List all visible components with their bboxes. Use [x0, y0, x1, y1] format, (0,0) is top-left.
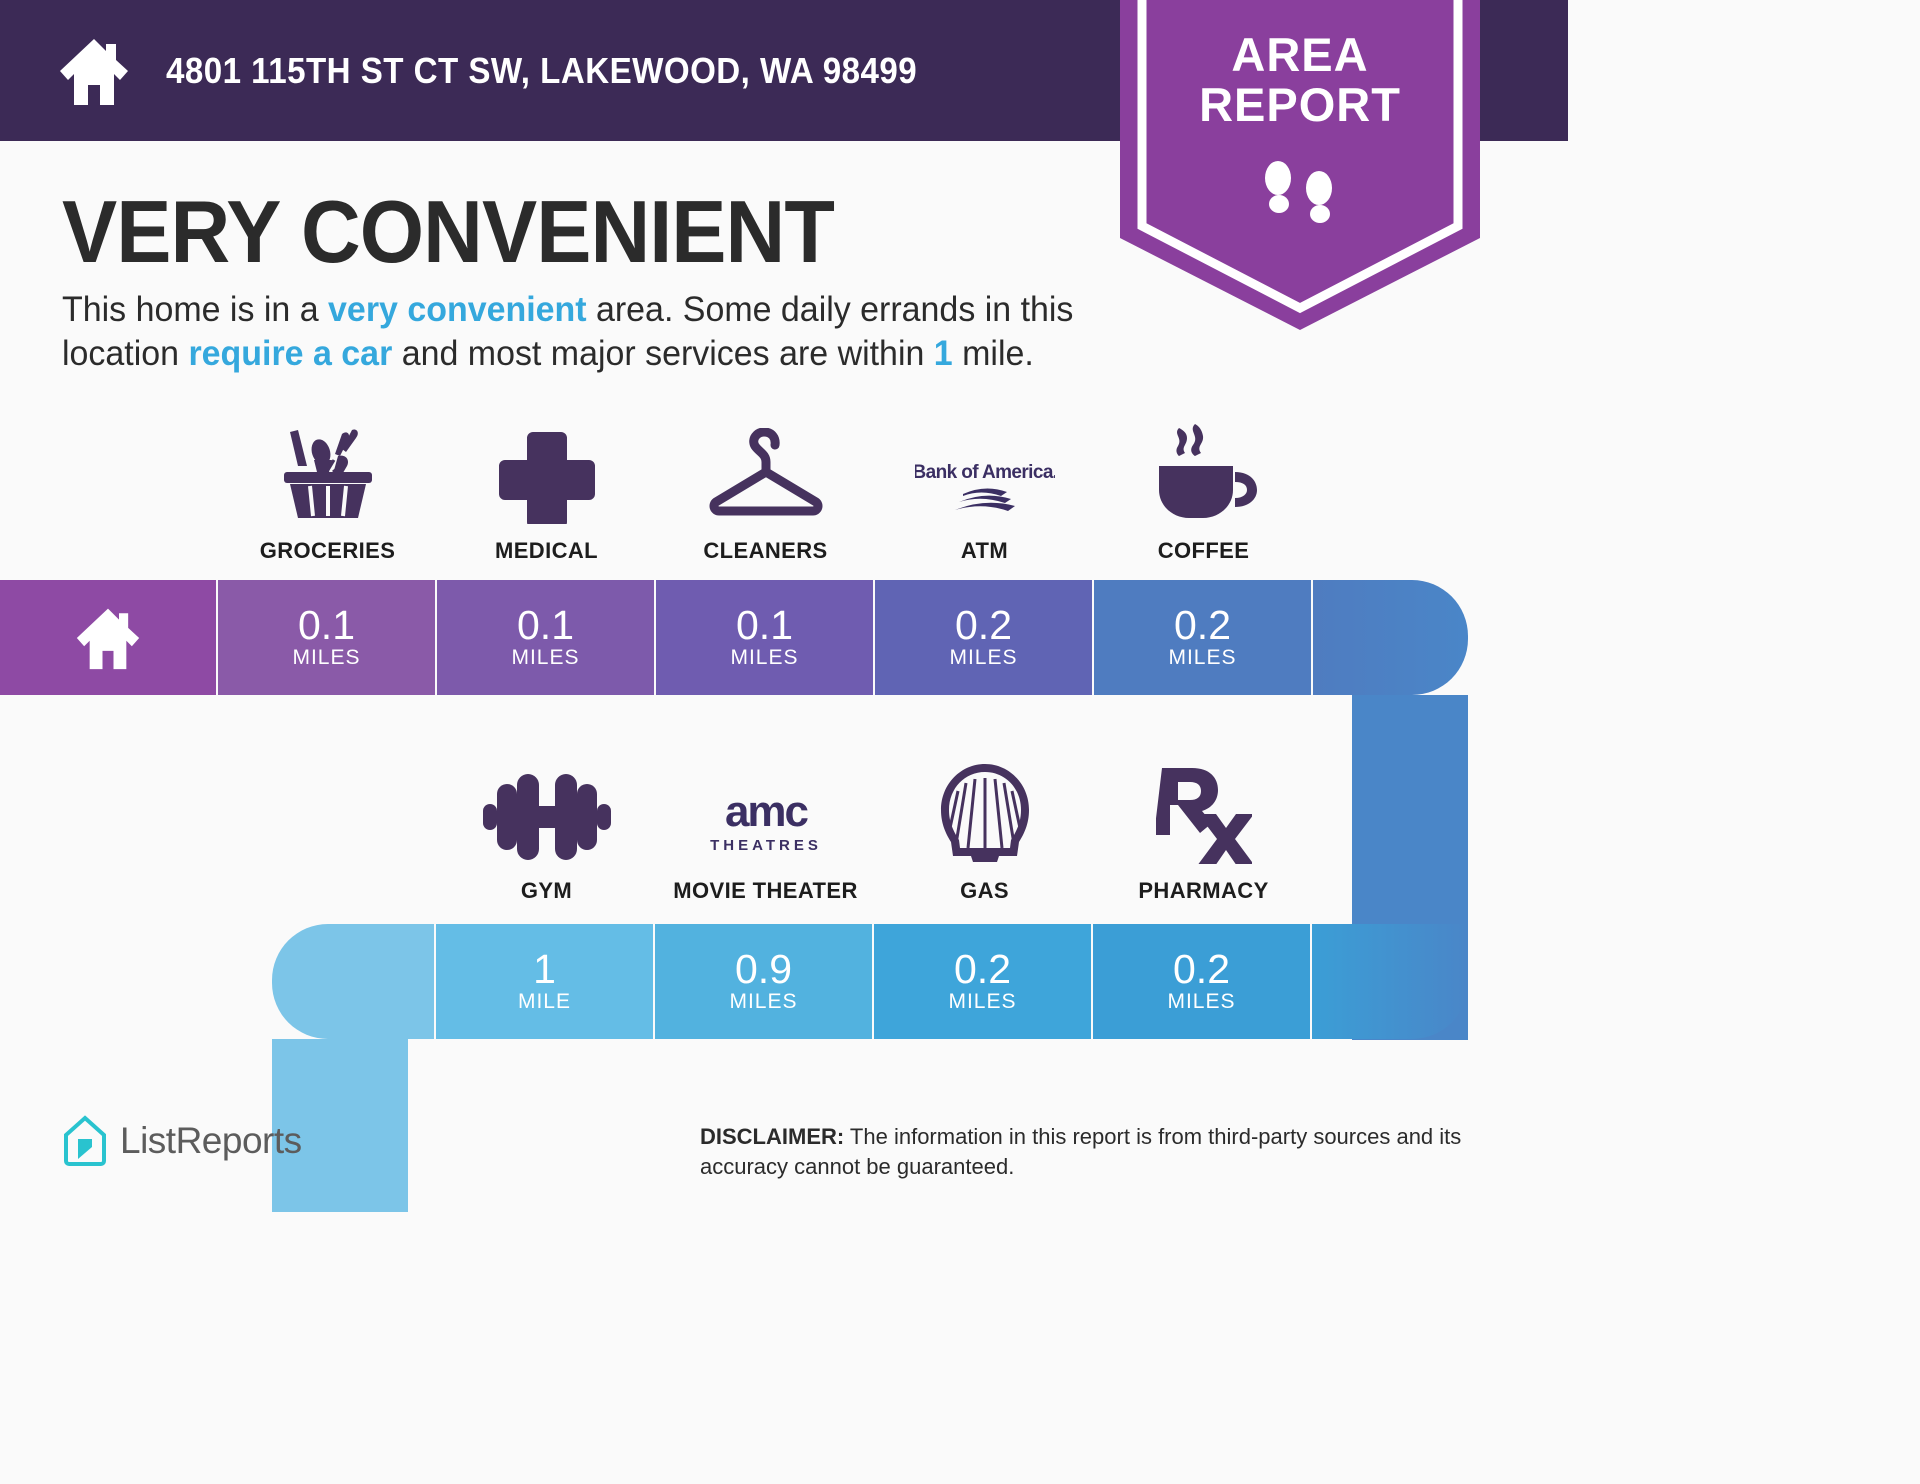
badge-line-1: AREA — [1120, 30, 1480, 80]
category-label: GROCERIES — [218, 538, 437, 564]
property-address: 4801 115TH ST CT SW, LAKEWOOD, WA 98499 — [166, 50, 917, 92]
category-label: MEDICAL — [437, 538, 656, 564]
category-coffee: COFFEE — [1094, 420, 1313, 564]
distance-unit: MILES — [948, 989, 1016, 1015]
summary-text: This home is in a very convenient area. … — [62, 288, 1090, 376]
bar-lead-row2 — [272, 924, 436, 1039]
lede-part-4: mile. — [953, 334, 1034, 373]
distance-value: 0.9 — [735, 949, 792, 989]
home-marker-cell — [0, 580, 218, 695]
category-medical: MEDICAL — [437, 420, 656, 564]
bar-corner-notch — [272, 1039, 412, 1101]
category-label: GAS — [875, 878, 1094, 904]
category-cleaners: CLEANERS — [656, 420, 875, 564]
row2-distance-bar: 1 MILE 0.9 MILES 0.2 MILES 0.2 MILES — [272, 924, 1468, 1039]
grocery-basket-icon — [218, 420, 437, 524]
category-pharmacy: PHARMACY — [1094, 760, 1313, 904]
category-movie-theater: amc THEATRES MOVIE THEATER — [656, 760, 875, 904]
house-icon — [72, 605, 144, 671]
badge-line-2: REPORT — [1120, 80, 1480, 130]
badge-title: AREA REPORT — [1120, 30, 1480, 130]
distance-value: 1 — [533, 949, 556, 989]
lede-highlight-convenience: very convenient — [328, 290, 587, 329]
lede-highlight-car: require a car — [188, 334, 392, 373]
disclaimer-label: DISCLAIMER: — [700, 1124, 844, 1149]
lede-part-3: and most major services are within — [392, 334, 934, 373]
lede-highlight-distance: 1 — [934, 334, 953, 373]
distance-cell-coffee: 0.2 MILES — [1094, 580, 1313, 695]
category-label: PHARMACY — [1094, 878, 1313, 904]
footprints-icon — [1263, 160, 1337, 232]
bar-tail-row2 — [1312, 924, 1468, 1039]
category-label: MOVIE THEATER — [656, 878, 875, 904]
distance-value: 0.1 — [517, 605, 574, 645]
bar-tail-row1 — [1313, 580, 1468, 695]
house-icon — [56, 35, 132, 107]
lede-part-1: This home is in a — [62, 290, 328, 329]
page-title: VERY CONVENIENT — [62, 186, 834, 278]
distance-unit: MILES — [511, 645, 579, 671]
category-atm: Bank of America. ATM — [875, 420, 1094, 564]
category-label: CLEANERS — [656, 538, 875, 564]
distance-value: 0.2 — [954, 949, 1011, 989]
svg-text:Bank of America.: Bank of America. — [915, 462, 1055, 483]
distance-cell-groceries: 0.1 MILES — [218, 580, 437, 695]
distance-cell-pharmacy: 0.2 MILES — [1093, 924, 1312, 1039]
category-groceries: GROCERIES — [218, 420, 437, 564]
bank-of-america-logo: Bank of America. — [875, 420, 1094, 524]
distance-value: 0.1 — [736, 605, 793, 645]
listreports-wordmark: ListReports — [120, 1120, 302, 1162]
row1-distance-bar: 0.1 MILES 0.1 MILES 0.1 MILES 0.2 MILES … — [0, 580, 1468, 695]
distance-cell-cleaners: 0.1 MILES — [656, 580, 875, 695]
distance-value: 0.2 — [1173, 949, 1230, 989]
distance-unit: MILES — [729, 989, 797, 1015]
category-label: ATM — [875, 538, 1094, 564]
distance-cell-movie-theater: 0.9 MILES — [655, 924, 874, 1039]
distance-unit: MILES — [292, 645, 360, 671]
distance-cell-atm: 0.2 MILES — [875, 580, 1094, 695]
distance-value: 0.1 — [298, 605, 355, 645]
listreports-logo[interactable]: ListReports — [62, 1115, 302, 1167]
category-label: COFFEE — [1094, 538, 1313, 564]
area-report-badge: AREA REPORT — [1120, 0, 1480, 330]
distance-cell-gas: 0.2 MILES — [874, 924, 1093, 1039]
distance-cell-medical: 0.1 MILES — [437, 580, 656, 695]
medical-cross-icon — [437, 420, 656, 524]
distance-value: 0.2 — [955, 605, 1012, 645]
listreports-mark-icon — [62, 1115, 108, 1167]
distance-unit: MILES — [949, 645, 1017, 671]
svg-text:THEATRES: THEATRES — [710, 837, 822, 854]
dumbbell-icon — [437, 760, 656, 864]
amc-theatres-logo: amc THEATRES — [656, 760, 875, 864]
category-gas: GAS — [875, 760, 1094, 904]
shell-logo — [875, 760, 1094, 864]
rx-icon — [1094, 760, 1313, 864]
distance-unit: MILES — [1167, 989, 1235, 1015]
distance-value: 0.2 — [1174, 605, 1231, 645]
disclaimer-text: DISCLAIMER: The information in this repo… — [700, 1122, 1510, 1182]
distance-unit: MILES — [1168, 645, 1236, 671]
svg-text:amc: amc — [724, 787, 808, 836]
distance-cell-gym: 1 MILE — [436, 924, 655, 1039]
distance-unit: MILES — [730, 645, 798, 671]
distance-unit: MILE — [518, 989, 571, 1015]
category-gym: GYM — [437, 760, 656, 904]
category-label: GYM — [437, 878, 656, 904]
coffee-cup-icon — [1094, 420, 1313, 524]
hanger-icon — [656, 420, 875, 524]
